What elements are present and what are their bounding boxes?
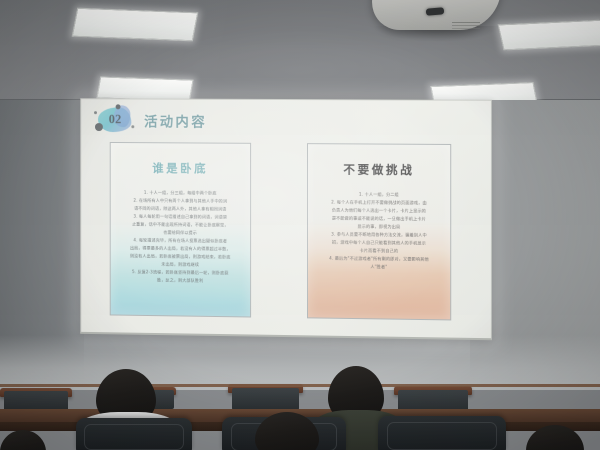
card-body-line: 4. 每轮描述完毕，所有在场人投票选出疑似卧底者 [118, 236, 244, 244]
card-body-line: 显示的事，即视为出局 [315, 222, 443, 230]
card-body-line: 卡片而看不到自己的 [315, 247, 443, 256]
card-no-challenge-title: 不要做挑战 [308, 161, 450, 178]
card-body-line: 是不能做的事或不能说的话，一旦做出手机上卡片 [315, 214, 443, 222]
card-body-line: 出局，得票最多的人出局，若没有人的得票超过半数， [118, 244, 244, 252]
card-undercover: 谁是卧底 1. 十人一组，分三组，每组中两个卧底2. 在场所有人中只有两个人拿到… [110, 142, 251, 318]
card-body-line: 2. 在场所有人中只有两个人拿到与其他人手中的词 [118, 197, 244, 205]
projection-screen: 02 活动内容 谁是卧底 1. 十人一组，分三组，每组中两个卧底2. 在场所有人… [80, 98, 492, 340]
card-body-line: 3. 每人每轮用一句话描述自己拿到的词语，词语禁 [118, 213, 244, 221]
decor-dot-icon-1 [116, 104, 121, 109]
card-body-line: 3. 参与人员要不断地用各种方法交流，骗着别人中 [315, 230, 443, 238]
wooden-chair-3-pad [232, 388, 299, 410]
section-number: 02 [102, 112, 129, 127]
attendee-front-left-head [0, 430, 46, 450]
slide-title: 活动内容 [144, 110, 207, 130]
card-body-line: 语不同的词语，除这两人外，其他人拿有相同词语 [118, 205, 244, 213]
card-body-line: 胜，反之，则大部队胜利 [118, 276, 244, 285]
slide-cards: 谁是卧底 1. 十人一组，分三组，每组中两个卧底2. 在场所有人中只有两个人拿到… [110, 142, 452, 320]
slide-header: 02 活动内容 [94, 105, 207, 135]
card-body-line: 1. 十人一组，分三组，每组中两个卧底 [118, 189, 244, 197]
card-body-line: 1. 十人一组，分二组 [315, 190, 443, 198]
card-body-line: 止重复，话中不能出现所持词语，不能让卧底察觉， [118, 220, 244, 228]
led-panel-light-1 [72, 8, 199, 42]
desk-edge-highlight [0, 384, 600, 387]
wooden-chair-1-pad [4, 391, 68, 411]
card-body-line: 也要给同伴以提示 [118, 228, 244, 236]
leather-chair-3-seam [387, 422, 497, 450]
card-undercover-title: 谁是卧底 [111, 160, 250, 177]
card-body-line: 负责人为他们每个人选出一个卡片，卡片上显示的 [315, 206, 443, 214]
card-body-line: 招，游戏中每个人自己只能看到其他人的手机显示 [315, 239, 443, 247]
leather-chair-1-seam [84, 424, 184, 450]
led-panel-light-3 [498, 20, 600, 51]
card-undercover-body: 1. 十人一组，分三组，每组中两个卧底2. 在场所有人中只有两个人拿到与其他人手… [118, 189, 244, 285]
card-no-challenge-body: 1. 十人一组，分二组2. 每个人在手机上打开不要做挑战的页面游戏，由负责人为他… [315, 190, 443, 271]
projector-vent [452, 22, 480, 23]
card-no-challenge: 不要做挑战 1. 十人一组，分二组2. 每个人在手机上打开不要做挑战的页面游戏，… [307, 143, 451, 320]
decor-dot-icon-3 [94, 111, 97, 114]
decor-dot-icon-4 [131, 125, 134, 128]
section-number-badge: 02 [94, 105, 135, 135]
conference-room-photo: 02 活动内容 谁是卧底 1. 十人一组，分三组，每组中两个卧底2. 在场所有人… [0, 0, 600, 450]
back-wall-lower-band [0, 335, 600, 390]
card-body-line: 则没有人出局，若卧底被票出局，则游戏结束，若卧底 [118, 252, 244, 260]
card-body-line: 人"胜者" [315, 263, 443, 272]
card-body-line: 4. 最后为"不过游戏者"所有剩的即对，又要影响其他 [315, 255, 443, 264]
card-body-line: 2. 每个人在手机上打开不要做挑战的页面游戏，由 [315, 198, 443, 206]
